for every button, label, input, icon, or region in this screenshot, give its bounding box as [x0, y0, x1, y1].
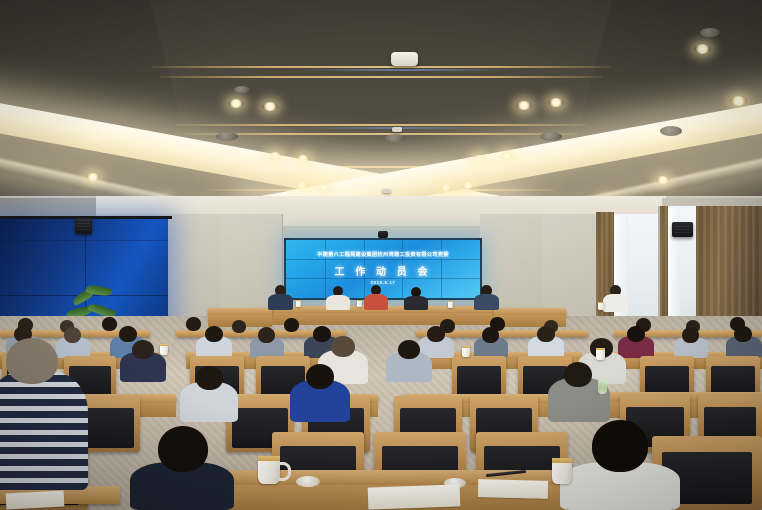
- document-paper: [6, 490, 65, 509]
- person-head: [284, 318, 299, 332]
- screen-headline: 中建第六工程局建设集团杭州湾建工投资有限公司党委: [286, 251, 480, 258]
- person-head: [734, 326, 752, 342]
- camera-icon: [378, 231, 388, 238]
- person-head: [427, 326, 445, 342]
- person-head: [64, 327, 81, 343]
- person-head: [564, 362, 592, 387]
- person-head: [6, 338, 58, 384]
- coffee-mug: [462, 346, 470, 357]
- recessed-downlight: [656, 176, 670, 184]
- coffee-mug: [160, 344, 168, 355]
- person-head: [331, 336, 355, 357]
- recessed-downlight: [296, 182, 308, 189]
- projector-box-icon: [391, 52, 418, 66]
- coffee-mug: [357, 300, 362, 307]
- person-torso: [474, 294, 499, 310]
- screen-date: 2019.6.17: [286, 280, 480, 285]
- person-head: [306, 364, 334, 389]
- ceiling-trim-line: [184, 133, 578, 135]
- person-head: [205, 326, 223, 342]
- ceiling-speaker: [660, 126, 682, 136]
- person-head: [537, 326, 555, 342]
- person-torso: [364, 294, 388, 310]
- person-head: [398, 340, 420, 359]
- recessed-downlight: [472, 155, 486, 163]
- person-head: [119, 326, 137, 342]
- led-video-wall-screen: 中建第六工程局建设集团杭州湾建工投资有限公司党委 工 作 动 员 会 2019.…: [286, 240, 480, 298]
- wall-speaker: [672, 222, 693, 237]
- ceiling-trim-line: [176, 124, 586, 126]
- meeting-room-photo: 中建第六工程局建设集团杭州湾建工投资有限公司党委 工 作 动 员 会 2019.…: [0, 0, 762, 510]
- recessed-downlight: [296, 155, 310, 163]
- person-head: [627, 326, 645, 342]
- recessed-downlight: [548, 98, 564, 107]
- recessed-downlight: [262, 102, 278, 111]
- person-torso: [268, 294, 293, 310]
- person-torso: [326, 295, 350, 310]
- recessed-downlight: [228, 99, 244, 108]
- ceiling-trim-line: [152, 66, 610, 68]
- screen-main-title: 工 作 动 员 会: [286, 263, 480, 278]
- person-head: [196, 366, 223, 390]
- person-head: [186, 317, 201, 331]
- person-head: [158, 426, 208, 472]
- person-head: [102, 317, 117, 331]
- document-paper: [368, 484, 461, 509]
- recessed-downlight: [86, 173, 100, 181]
- person-head: [682, 327, 699, 343]
- recessed-downlight: [440, 184, 452, 191]
- recessed-downlight: [516, 101, 532, 110]
- ceiling-speaker: [385, 134, 405, 142]
- ceiling-speaker: [700, 28, 720, 37]
- recessed-downlight: [730, 96, 747, 106]
- coffee-mug: [598, 302, 604, 310]
- person-head: [132, 340, 154, 359]
- smoke-detector-icon: [382, 189, 391, 193]
- coffee-mug: [552, 458, 572, 484]
- person-torso: [603, 294, 628, 312]
- recessed-downlight: [318, 184, 330, 191]
- head-table-front: [268, 313, 496, 325]
- ceiling-speaker: [540, 132, 562, 141]
- mug-lid: [296, 476, 320, 487]
- recessed-downlight: [694, 44, 711, 54]
- person-head: [313, 326, 331, 342]
- person-torso: [404, 296, 428, 310]
- person-head: [482, 327, 499, 343]
- glass-cup: [598, 380, 607, 394]
- recessed-downlight: [462, 182, 474, 189]
- ceiling-trim-line: [160, 76, 602, 78]
- wall-speaker: [75, 218, 92, 234]
- recessed-downlight: [268, 152, 282, 160]
- recessed-downlight: [500, 152, 514, 160]
- coffee-mug: [596, 348, 605, 360]
- coffee-mug: [296, 300, 301, 307]
- ceiling-speaker: [216, 132, 238, 141]
- coffee-mug: [258, 456, 280, 484]
- document-paper: [478, 479, 548, 499]
- person-head: [232, 320, 246, 333]
- person-torso-striped: [0, 372, 88, 490]
- person-head: [592, 420, 648, 472]
- person-head: [258, 327, 275, 343]
- smoke-detector-icon: [392, 127, 402, 132]
- ceiling-speaker: [234, 86, 250, 93]
- coffee-mug: [448, 301, 453, 308]
- ceiling-blue-reflection: [300, 69, 510, 71]
